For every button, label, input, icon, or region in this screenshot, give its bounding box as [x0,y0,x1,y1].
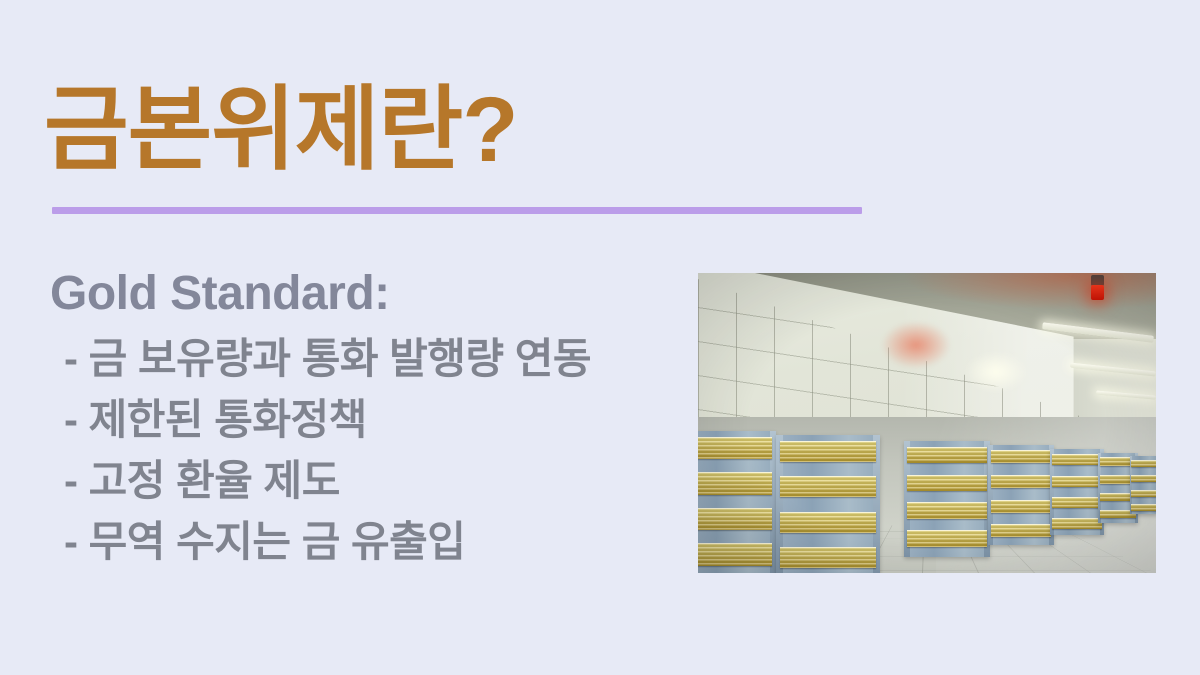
bullet-list: - 금 보유량과 통화 발행량 연동 - 제한된 통화정책 - 고정 환율 제도… [50,328,670,573]
gold-vault-image [698,273,1156,573]
lamp-reflection [964,351,1028,393]
list-item: - 고정 환율 제도 [50,450,670,511]
list-item: - 금 보유량과 통화 발행량 연동 [50,328,670,389]
gold-rack [904,441,990,557]
list-item: - 무역 수지는 금 유출입 [50,511,670,572]
gold-rack [988,445,1054,545]
red-light-reflection [881,321,951,369]
gold-rack [776,435,880,573]
gold-rack [1050,449,1104,535]
page-title: 금본위제란? [44,78,517,184]
gold-rack [698,431,776,573]
gold-rack [1130,456,1156,514]
body-heading: Gold Standard: [50,265,670,324]
title-underline-rule [52,207,862,214]
slide-canvas: 금본위제란? Gold Standard: - 금 보유량과 통화 발행량 연동… [0,0,1200,675]
body-text-block: Gold Standard: - 금 보유량과 통화 발행량 연동 - 제한된 … [50,265,670,573]
vault-scene [698,273,1156,573]
red-alarm-light-icon [1091,285,1104,300]
list-item: - 제한된 통화정책 [50,389,670,450]
